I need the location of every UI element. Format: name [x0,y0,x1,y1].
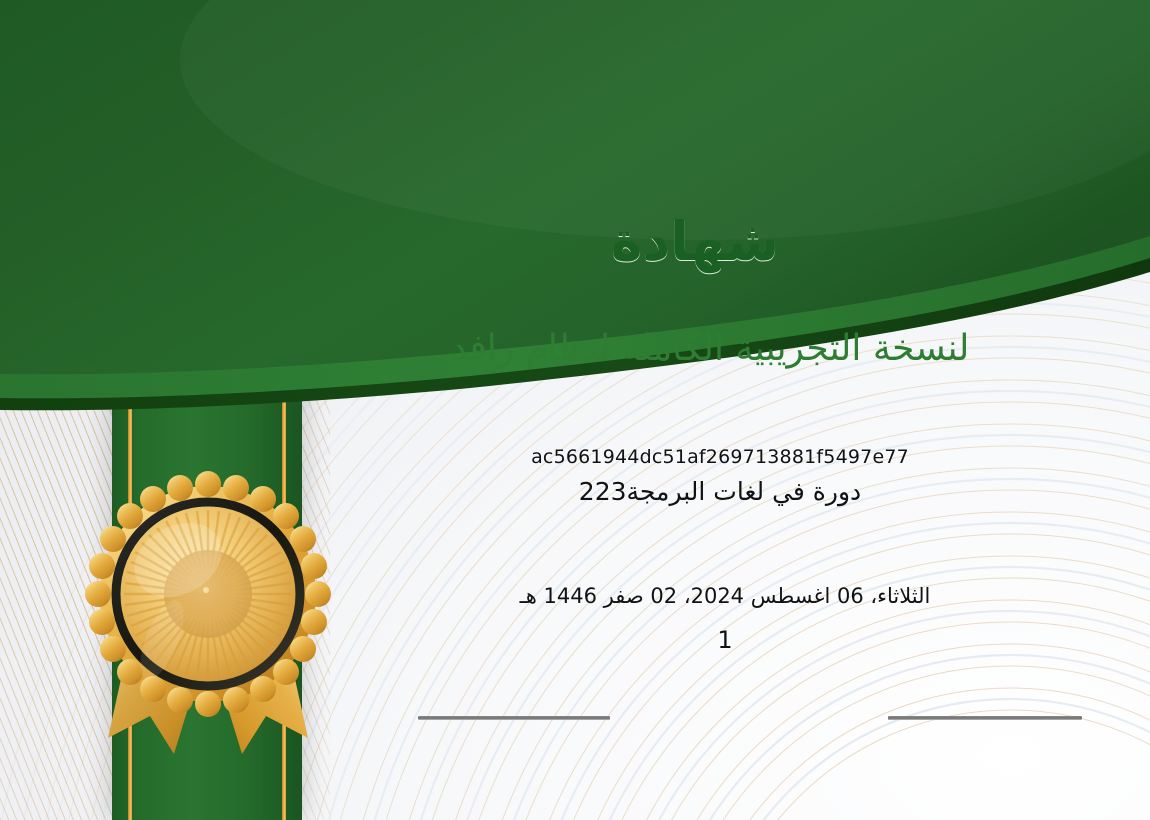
serial-number: 1 [330,626,1150,654]
certificate-subtitle: لنسخة التجريبية الكاملة لنظام رافد [330,328,1150,369]
certificate-title: شهادة [330,210,1150,273]
course-name: دورة في لغات البرمجة223 [330,477,1150,506]
verification-hash: ac5661944dc51af269713881f5497e77 [330,446,1150,468]
certificate-text-block: شهادة لنسخة التجريبية الكاملة لنظام رافد… [330,0,1150,820]
issue-date: الثلاثاء، 06 اغسطس 2024، 02 صفر 1446 هـ [330,584,1150,608]
certificate-canvas: شهادة لنسخة التجريبية الكاملة لنظام رافد… [0,0,1150,820]
signature-line-right [888,716,1082,720]
signature-line-left [418,716,610,720]
gold-award-medal-icon [78,470,338,760]
